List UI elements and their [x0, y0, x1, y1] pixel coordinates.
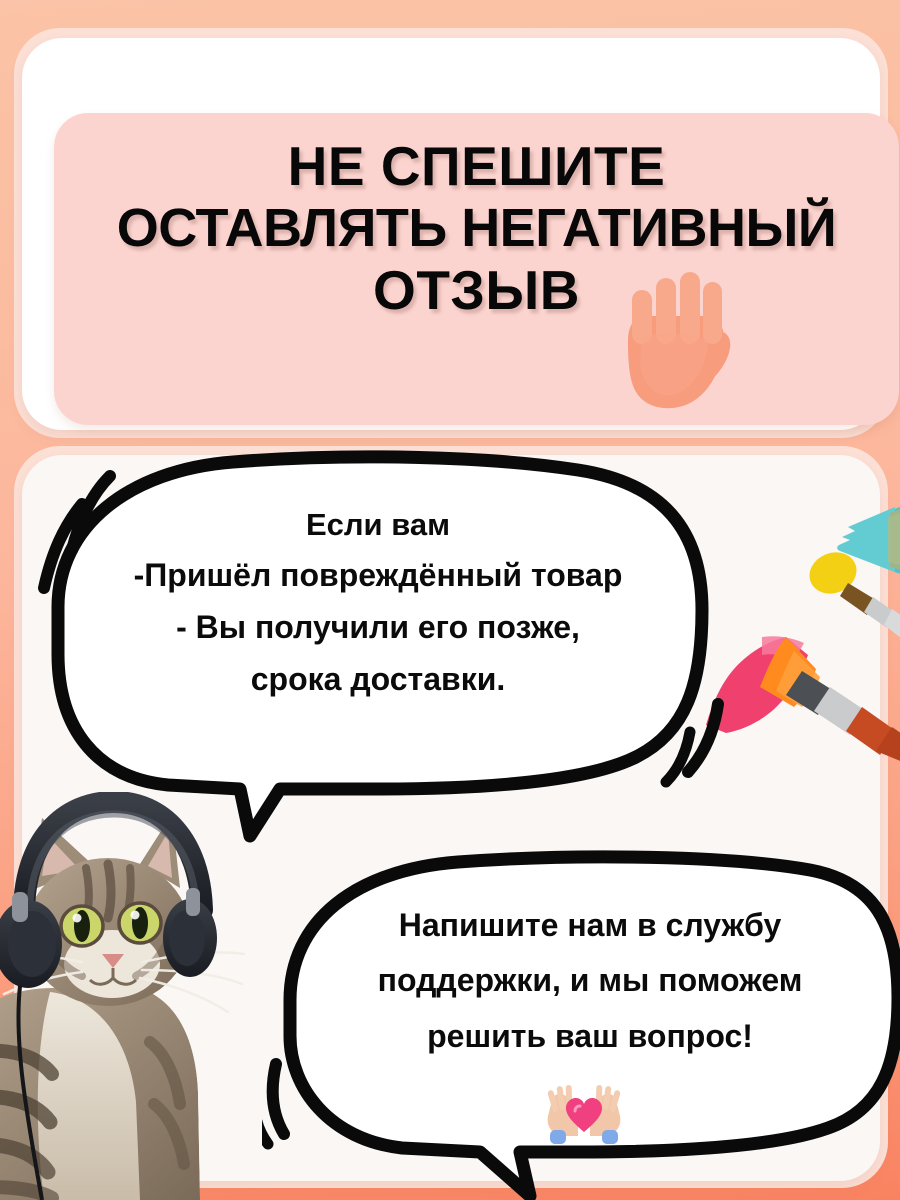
raised-hand-icon — [612, 266, 732, 416]
poster-canvas: НЕ СПЕШИТЕ ОСТАВЛЯТЬ НЕГАТИВНЫЙ ОТЗЫВ — [0, 0, 900, 1200]
cat-with-headphones-photo — [0, 792, 290, 1200]
title-line-2: ОСТАВЛЯТЬ НЕГАТИВНЫЙ — [54, 198, 899, 260]
header-card: НЕ СПЕШИТЕ ОСТАВЛЯТЬ НЕГАТИВНЫЙ ОТЗЫВ — [22, 38, 880, 430]
title-line-1: НЕ СПЕШИТЕ — [54, 135, 899, 198]
heart-hands-icon — [536, 1082, 632, 1144]
support-bubble — [262, 840, 900, 1200]
page-title: НЕ СПЕШИТЕ ОСТАВЛЯТЬ НЕГАТИВНЫЙ ОТЗЫВ — [54, 135, 899, 322]
condition-bubble — [18, 432, 738, 852]
title-line-3: ОТЗЫВ — [54, 259, 899, 322]
header-pink-panel: НЕ СПЕШИТЕ ОСТАВЛЯТЬ НЕГАТИВНЫЙ ОТЗЫВ — [54, 113, 899, 425]
